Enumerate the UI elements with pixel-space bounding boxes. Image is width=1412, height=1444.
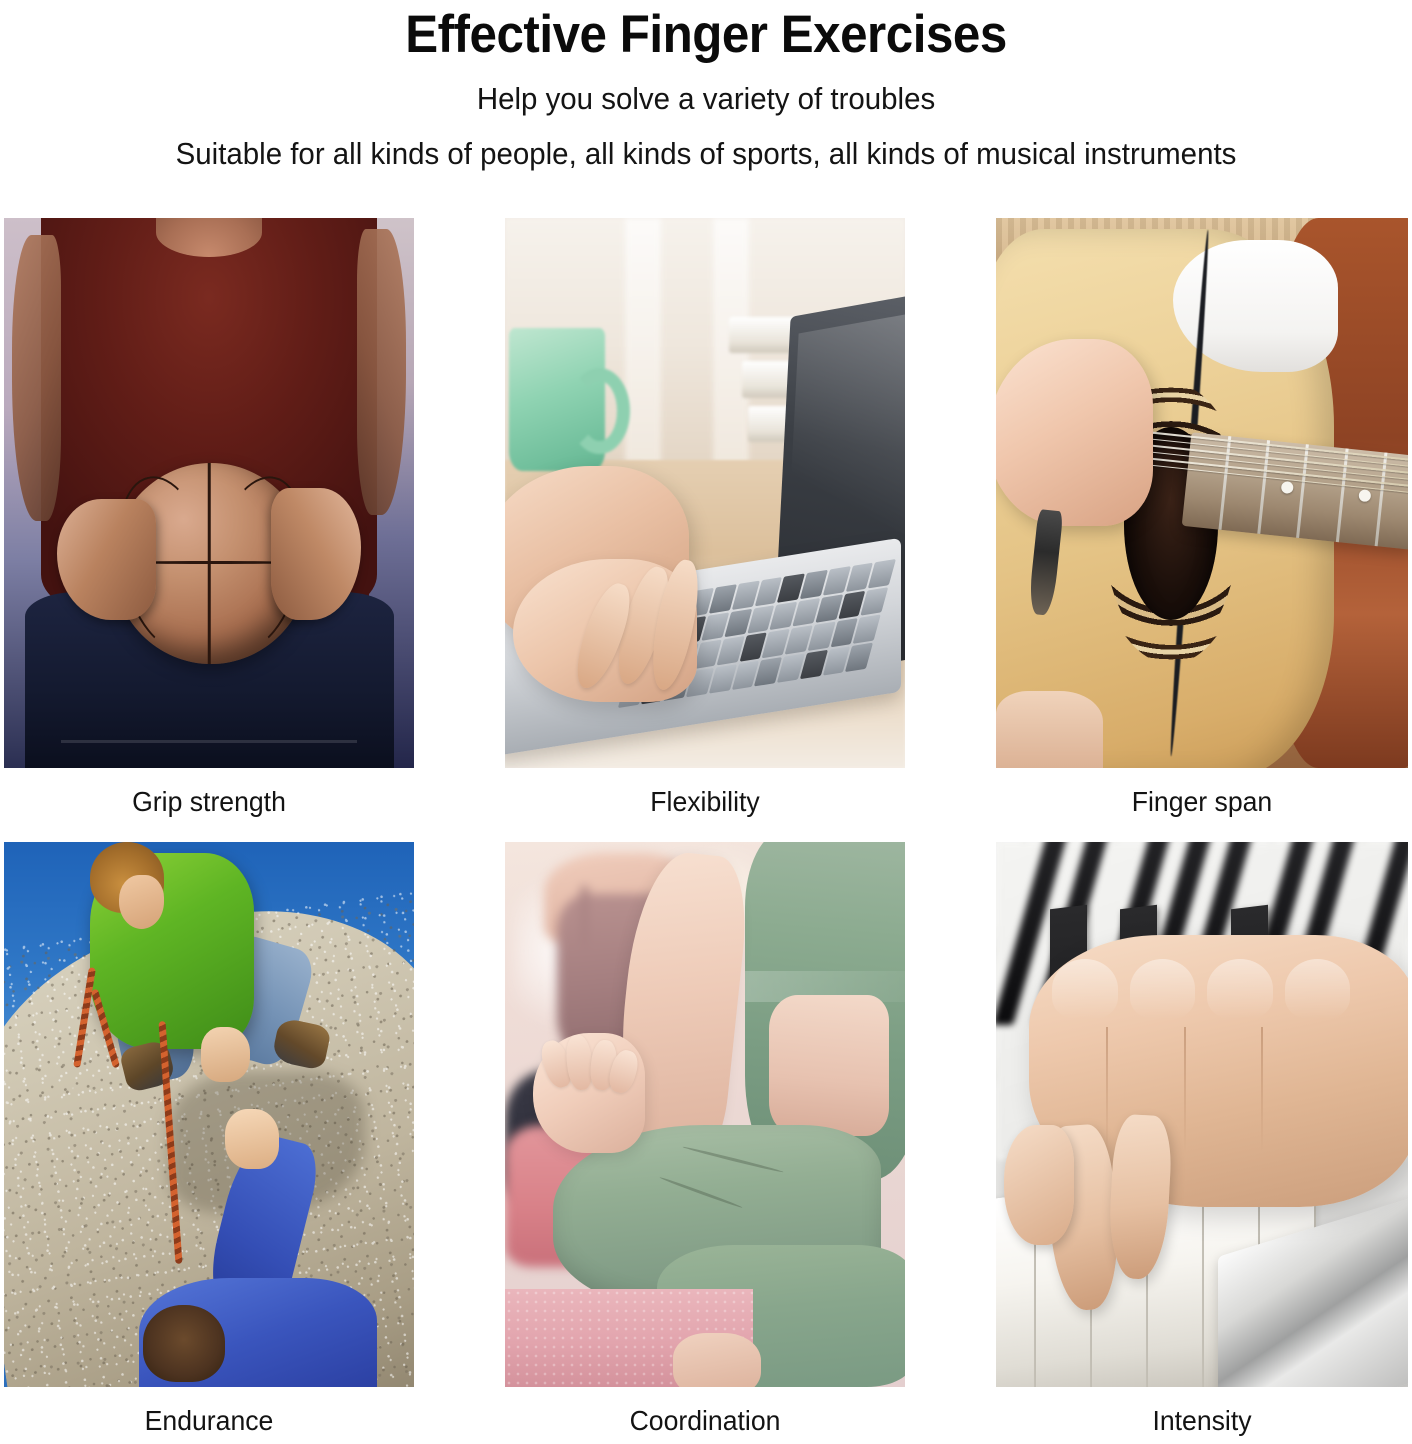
caption-wrap: Coordination [505, 1405, 905, 1444]
green-mug [509, 328, 605, 471]
players-leg [996, 691, 1103, 768]
pianist-thumb [1004, 1125, 1074, 1245]
gallery-cell-flexibility: Flexibility [505, 218, 905, 842]
benefit-gallery-grid: Grip strength [4, 218, 1408, 1444]
gallery-cell-intensity: Intensity [996, 842, 1408, 1444]
bare-foot [673, 1333, 761, 1388]
gallery-cell-coordination: Coordination [505, 842, 905, 1444]
caption-grip-strength: Grip strength [14, 786, 404, 818]
climber-bottom-hand [225, 1109, 278, 1169]
piano-playing-photo [996, 842, 1408, 1387]
athlete-left-arm [12, 235, 61, 521]
subtitle-secondary: Suitable for all kinds of people, all ki… [35, 136, 1376, 172]
foreground-midriff [769, 995, 889, 1137]
caption-intensity: Intensity [1006, 1405, 1397, 1437]
infographic-page: Effective Finger Exercises Help you solv… [0, 0, 1412, 1444]
gallery-cell-finger-span: Finger span [996, 218, 1408, 842]
gallery-cell-endurance: Endurance [4, 842, 414, 1444]
meditation-mudra-hand [533, 1033, 645, 1153]
laptop-typing-photo [505, 218, 905, 768]
page-title: Effective Finger Exercises [49, 6, 1362, 63]
caption-wrap: Flexibility [505, 786, 905, 842]
rock-climbing-photo [4, 842, 414, 1387]
caption-flexibility: Flexibility [515, 786, 895, 818]
climber-bottom-hair [143, 1305, 225, 1381]
acoustic-guitar-photo [996, 218, 1408, 768]
caption-wrap: Finger span [996, 786, 1408, 842]
gallery-cell-grip-strength: Grip strength [4, 218, 414, 842]
tank-strap-left [581, 886, 588, 945]
caption-wrap: Endurance [4, 1405, 414, 1444]
yoga-meditation-photo [505, 842, 905, 1387]
window-light-stripe-1 [625, 218, 661, 471]
plucking-hand [996, 339, 1153, 526]
caption-endurance: Endurance [14, 1405, 404, 1437]
caption-coordination: Coordination [515, 1405, 895, 1437]
caption-finger-span: Finger span [1006, 786, 1397, 818]
subtitle-primary: Help you solve a variety of troubles [35, 81, 1376, 117]
climber-top-face [119, 875, 164, 930]
header: Effective Finger Exercises Help you solv… [0, 0, 1412, 172]
caption-wrap: Grip strength [4, 786, 414, 842]
athlete-right-arm [357, 229, 406, 515]
basketball-grip-photo [4, 218, 414, 768]
caption-wrap: Intensity [996, 1405, 1408, 1444]
